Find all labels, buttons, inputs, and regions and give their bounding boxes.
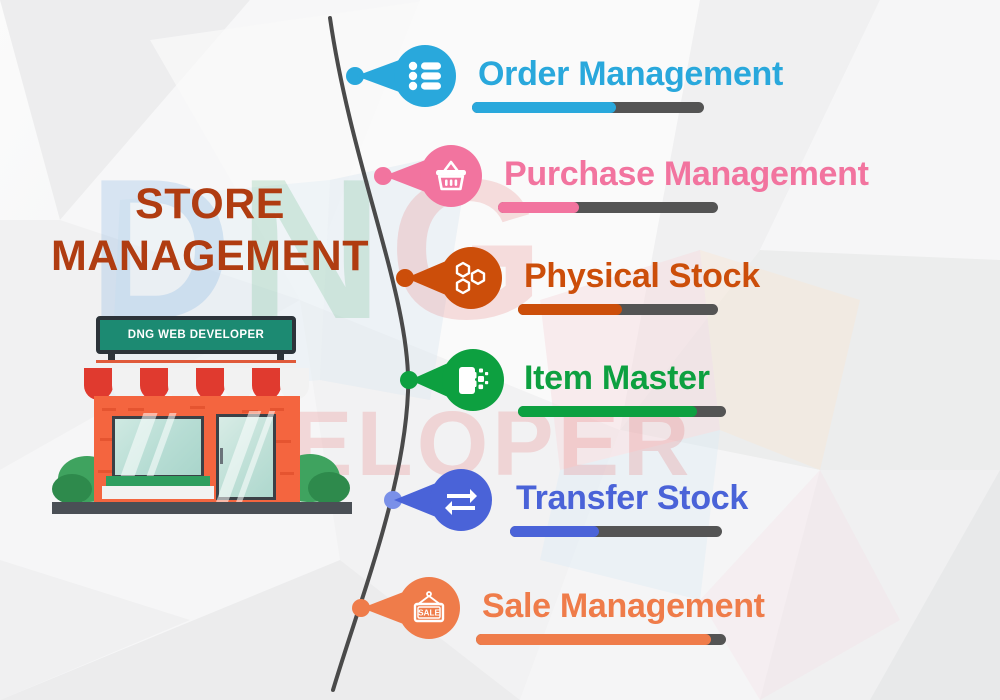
module-icon-bubble[interactable]	[394, 45, 456, 107]
progress-fill	[518, 304, 622, 315]
progress-track	[518, 406, 726, 417]
module-label: Physical Stock	[524, 257, 760, 296]
progress-track	[510, 526, 722, 537]
progress-fill	[518, 406, 697, 417]
progress-fill	[476, 634, 711, 645]
transfer-arrows-icon	[443, 485, 479, 515]
progress-track	[472, 102, 704, 113]
progress-track	[498, 202, 718, 213]
module-row-item-master[interactable]: Item Master	[0, 348, 1000, 448]
infographic-canvas: DNG DEVELOPER STORE MANAGEMENT DNG WEB D…	[0, 0, 1000, 700]
list-icon	[408, 61, 442, 91]
item-card-icon	[456, 363, 490, 397]
progress-fill	[472, 102, 616, 113]
progress-fill	[510, 526, 599, 537]
module-label: Sale Management	[482, 587, 765, 626]
module-label: Item Master	[524, 359, 710, 398]
module-label: Transfer Stock	[516, 479, 748, 518]
module-icon-bubble[interactable]	[440, 247, 502, 309]
module-row-purchase-management[interactable]: Purchase Management	[0, 144, 1000, 244]
progress-track	[518, 304, 718, 315]
module-row-physical-stock[interactable]: Physical Stock	[0, 246, 1000, 346]
module-row-order-management[interactable]: Order Management	[0, 44, 1000, 144]
module-label: Order Management	[478, 55, 783, 94]
module-icon-bubble[interactable]: SALE	[398, 577, 460, 639]
module-row-sale-management[interactable]: SALE Sale Management	[0, 576, 1000, 676]
hex-boxes-icon	[454, 261, 488, 295]
module-label: Purchase Management	[504, 155, 869, 194]
module-icon-bubble[interactable]	[442, 349, 504, 411]
module-icon-bubble[interactable]	[430, 469, 492, 531]
module-row-transfer-stock[interactable]: Transfer Stock	[0, 468, 1000, 568]
svg-text:SALE: SALE	[418, 609, 440, 618]
progress-track	[476, 634, 726, 645]
sale-sign-icon: SALE	[411, 591, 447, 625]
basket-icon	[434, 160, 468, 192]
module-icon-bubble[interactable]	[420, 145, 482, 207]
progress-fill	[498, 202, 579, 213]
